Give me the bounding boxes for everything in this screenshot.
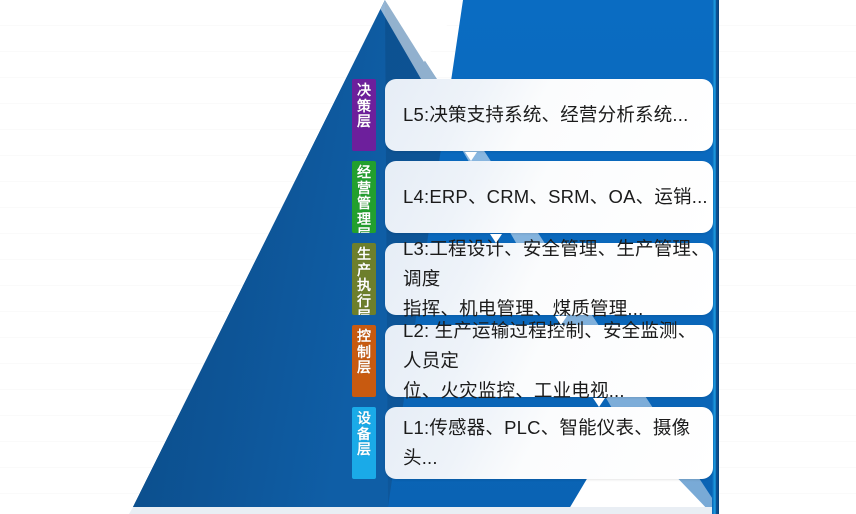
layer-rows: 决策层 L5:决策支持系统、经营分析系统... 经营管理层 L4:ERP、CRM… — [0, 0, 856, 514]
diagram-canvas: 决策层 L5:决策支持系统、经营分析系统... 经营管理层 L4:ERP、CRM… — [0, 0, 856, 514]
layer-card-l1[interactable]: L1:传感器、PLC、智能仪表、摄像头... — [385, 407, 713, 479]
row-divider-marker-2 — [490, 234, 502, 243]
layer-tab-l4[interactable]: 经营管理层 — [352, 161, 376, 233]
layer-card-l5[interactable]: L5:决策支持系统、经营分析系统... — [385, 79, 713, 151]
layer-row-l4[interactable]: 经营管理层 L4:ERP、CRM、SRM、OA、运销... — [352, 161, 713, 233]
layer-tab-label-l4: 经营管理层 — [352, 165, 376, 233]
layer-text-l2: L2: 生产运输过程控制、安全监测、人员定 位、火灾监控、工业电视... — [403, 316, 713, 406]
layer-card-l3[interactable]: L3:工程设计、安全管理、生产管理、调度 指挥、机电管理、煤质管理... — [385, 243, 713, 315]
layer-text-l4: L4:ERP、CRM、SRM、OA、运销... — [403, 182, 708, 212]
layer-tab-label-l2: 控制层 — [352, 329, 376, 376]
layer-row-l1[interactable]: 设备层 L1:传感器、PLC、智能仪表、摄像头... — [352, 407, 713, 479]
row-divider-marker-4 — [593, 398, 605, 407]
layer-row-l5[interactable]: 决策层 L5:决策支持系统、经营分析系统... — [352, 79, 713, 151]
layer-row-l3[interactable]: 生产执行层 L3:工程设计、安全管理、生产管理、调度 指挥、机电管理、煤质管理.… — [352, 243, 713, 315]
row-divider-marker-1 — [465, 152, 477, 161]
layer-card-l2[interactable]: L2: 生产运输过程控制、安全监测、人员定 位、火灾监控、工业电视... — [385, 325, 713, 397]
layer-text-l1: L1:传感器、PLC、智能仪表、摄像头... — [403, 413, 713, 473]
layer-tab-label-l5: 决策层 — [352, 83, 376, 130]
layer-text-l3: L3:工程设计、安全管理、生产管理、调度 指挥、机电管理、煤质管理... — [403, 234, 713, 324]
layer-tab-label-l3: 生产执行层 — [352, 247, 376, 315]
layer-tab-l1[interactable]: 设备层 — [352, 407, 376, 479]
row-divider-marker-3 — [555, 316, 567, 325]
layer-tab-l5[interactable]: 决策层 — [352, 79, 376, 151]
layer-tab-l2[interactable]: 控制层 — [352, 325, 376, 397]
layer-card-l4[interactable]: L4:ERP、CRM、SRM、OA、运销... — [385, 161, 713, 233]
layer-row-l2[interactable]: 控制层 L2: 生产运输过程控制、安全监测、人员定 位、火灾监控、工业电视... — [352, 325, 713, 397]
layer-tab-l3[interactable]: 生产执行层 — [352, 243, 376, 315]
layer-text-l5: L5:决策支持系统、经营分析系统... — [403, 100, 688, 130]
layer-tab-label-l1: 设备层 — [352, 411, 376, 458]
